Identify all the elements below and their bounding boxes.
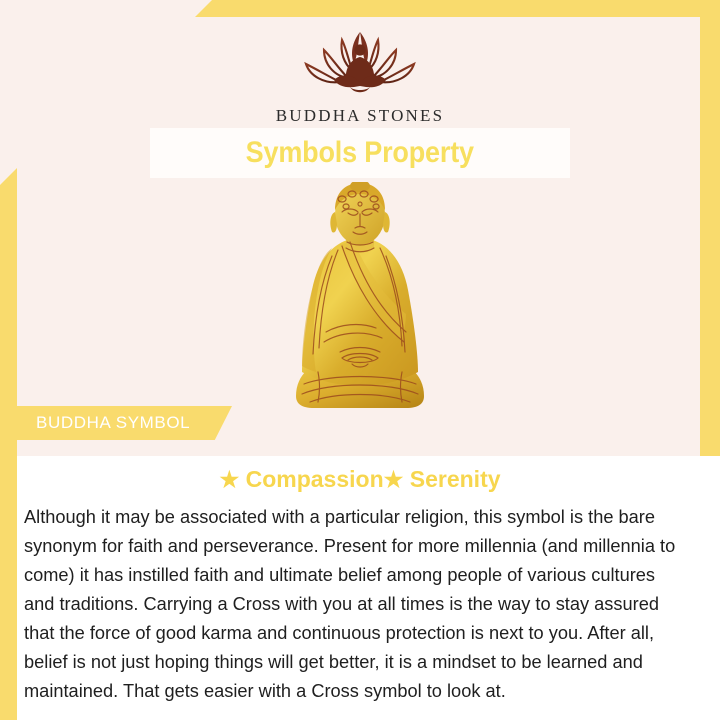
- subheading-item-serenity: Serenity: [410, 466, 501, 492]
- lotus-meditation-icon: [290, 24, 430, 100]
- promo-card: BUDDHA STONES Symbols Property: [0, 0, 720, 720]
- page-title: Symbols Property: [246, 136, 474, 170]
- brand-logo: BUDDHA STONES: [0, 24, 720, 126]
- title-banner: Symbols Property: [150, 128, 570, 178]
- subheading: ★ Compassion★ Serenity: [0, 466, 720, 493]
- seated-buddha-statue-icon: [280, 182, 440, 417]
- star-icon: ★: [384, 467, 404, 492]
- buddha-statue-image: [280, 182, 440, 417]
- decorative-top-bar: [195, 0, 720, 17]
- subheading-item-compassion: Compassion: [246, 466, 384, 492]
- ribbon-label: BUDDHA SYMBOL: [17, 413, 190, 433]
- decorative-left-bar-lower: [0, 456, 17, 720]
- body-paragraph: Although it may be associated with a par…: [24, 502, 683, 705]
- brand-name: BUDDHA STONES: [0, 106, 720, 126]
- star-icon: ★: [219, 467, 239, 492]
- buddha-symbol-ribbon: BUDDHA SYMBOL: [17, 406, 232, 440]
